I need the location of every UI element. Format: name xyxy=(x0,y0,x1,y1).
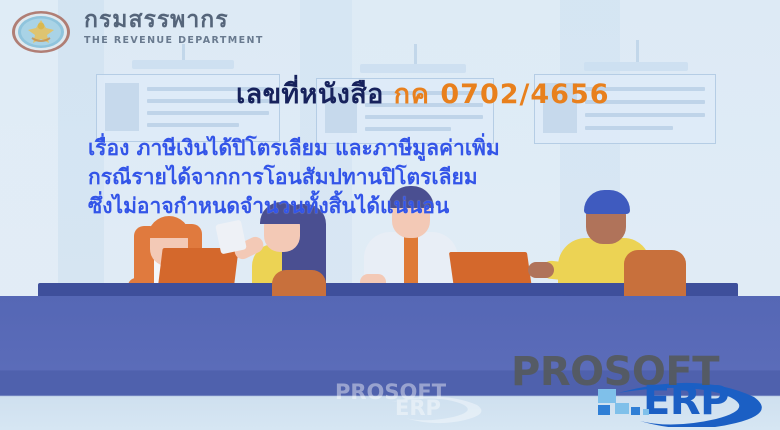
board-thumbnail xyxy=(105,83,139,131)
lamp-stem xyxy=(414,44,417,64)
logo-square xyxy=(615,403,629,414)
doc-no-value: กค 0702/4656 xyxy=(394,79,610,110)
logo-square xyxy=(631,407,640,415)
lamp-stem xyxy=(182,44,185,60)
subject-line-2: กรณีรายได้จากการโอนสัมปทานปิโตรเลียม xyxy=(88,163,728,192)
doc-no-label: เลขที่หนังสือ xyxy=(236,79,384,110)
slide-canvas: กรมสรรพากร THE REVENUE DEPARTMENT เลขที่… xyxy=(0,0,780,430)
lamp-stem xyxy=(636,40,639,62)
erp-wordmark: ERP xyxy=(643,378,729,424)
ceiling-lamp xyxy=(584,62,688,71)
board-text-line xyxy=(585,113,705,117)
revenue-department-emblem-icon xyxy=(10,8,72,56)
board-text-line xyxy=(365,127,451,131)
prosoft-erp-watermark: PROSOFT ERP xyxy=(333,380,503,428)
subject-line-3: ซึ่งไม่อาจกำหนดจำนวนทั้งสิ้นได้แน่นอน xyxy=(88,192,728,221)
prosoft-erp-logo: PROSOFT ERP xyxy=(503,345,771,427)
ceiling-lamp xyxy=(360,64,466,73)
logo-square xyxy=(643,409,649,415)
watermark-erp: ERP xyxy=(395,396,441,420)
document-subject: เรื่อง ภาษีเงินได้ปิโตรเลียม และภาษีมูลค… xyxy=(88,134,728,221)
document-number-line: เลขที่หนังสือ กค 0702/4656 xyxy=(236,80,610,110)
subject-line-1: เรื่อง ภาษีเงินได้ปิโตรเลียม และภาษีมูลค… xyxy=(88,134,728,163)
org-name-english: THE REVENUE DEPARTMENT xyxy=(84,35,264,46)
board-text-line xyxy=(147,123,239,127)
board-text-line xyxy=(585,126,673,130)
board-text-line xyxy=(147,111,269,115)
logo-square xyxy=(598,405,610,415)
org-name-thai: กรมสรรพากร xyxy=(84,9,264,32)
logo-square xyxy=(598,389,616,403)
ceiling-lamp xyxy=(132,60,234,69)
revenue-department-wordmark: กรมสรรพากร THE REVENUE DEPARTMENT xyxy=(84,9,264,46)
board-text-line xyxy=(365,115,483,119)
